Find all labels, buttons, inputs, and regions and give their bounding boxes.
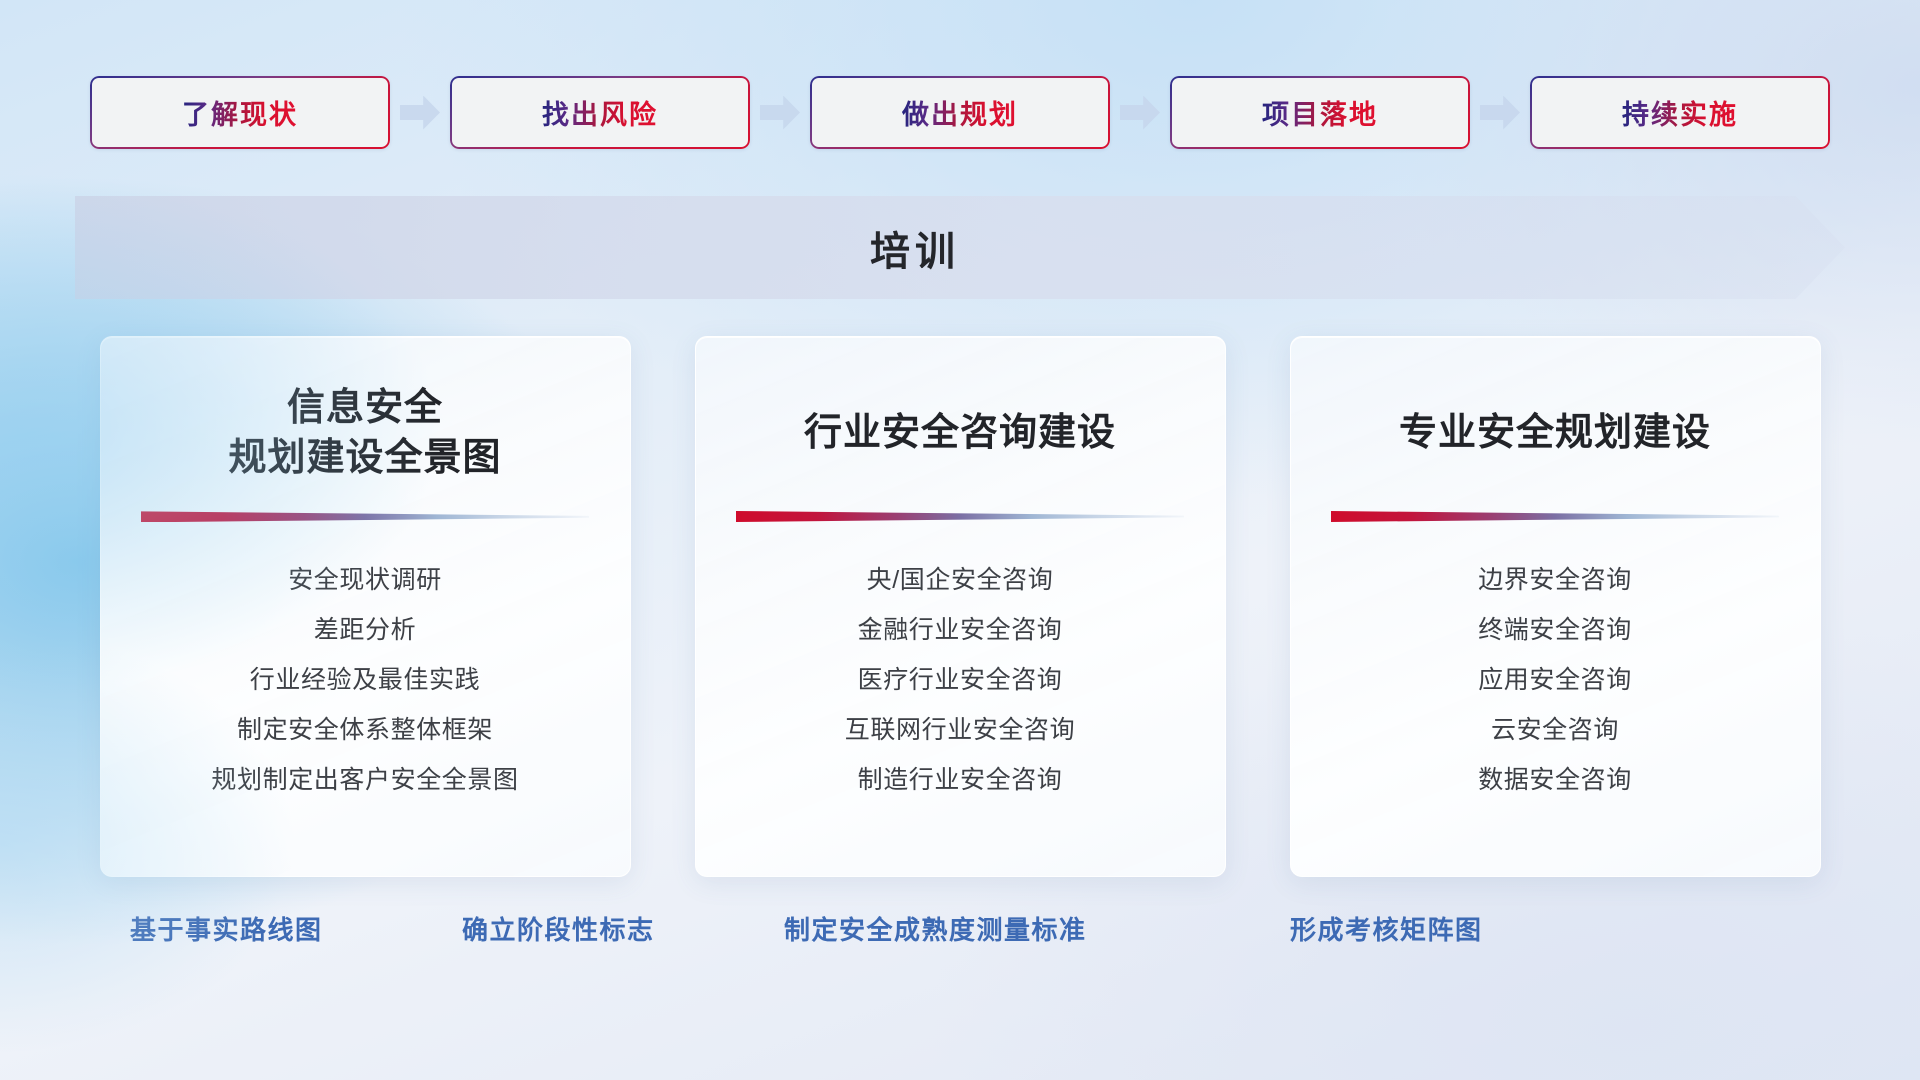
list-item: 金融行业安全咨询 — [736, 606, 1185, 656]
list-item: 数据安全咨询 — [1331, 756, 1780, 806]
card-title-2-line1: 行业安全咨询建设 — [804, 408, 1116, 458]
list-item: 边界安全咨询 — [1331, 556, 1780, 606]
step-label-1: 了解现状 — [182, 93, 298, 132]
list-item: 互联网行业安全咨询 — [736, 706, 1185, 756]
training-banner-arrow: 培训 — [75, 196, 1845, 299]
step-arrow-icon-2 — [760, 96, 800, 130]
list-item: 制定安全体系整体框架 — [141, 706, 590, 756]
list-item: 央/国企安全咨询 — [736, 556, 1185, 606]
card-professional-security-planning[interactable]: 专业安全规划建设 边界安全咨询 终端安全咨询 应用安全咨询 云安全咨询 数据安全… — [1290, 336, 1821, 877]
card-industry-security-consulting[interactable]: 行业安全咨询建设 央/国企安全咨询 金融行业安全咨询 医疗行业安全咨询 互联网行… — [695, 336, 1226, 877]
card-list-3: 边界安全咨询 终端安全咨询 应用安全咨询 云安全咨询 数据安全咨询 — [1331, 556, 1780, 806]
card-title-3: 专业安全规划建设 — [1399, 383, 1711, 483]
list-item: 应用安全咨询 — [1331, 656, 1780, 706]
step-arrow-icon-1 — [400, 96, 440, 130]
card-title-1: 信息安全 规划建设全景图 — [228, 383, 501, 483]
list-item: 终端安全咨询 — [1331, 606, 1780, 656]
list-item: 制造行业安全咨询 — [736, 756, 1185, 806]
caption-3: 制定安全成熟度测量标准 — [784, 910, 1087, 947]
step-label-2: 找出风险 — [542, 93, 658, 132]
step-label-4: 项目落地 — [1262, 93, 1378, 132]
caption-4: 形成考核矩阵图 — [1290, 910, 1483, 947]
card-list-1: 安全现状调研 差距分析 行业经验及最佳实践 制定安全体系整体框架 规划制定出客户… — [141, 556, 590, 806]
card-row: 信息安全 规划建设全景图 安全现状调研 差距分析 行业经验及最佳实践 制定安全体… — [0, 336, 1920, 877]
step-box-2[interactable]: 找出风险 — [450, 76, 750, 149]
step-box-1[interactable]: 了解现状 — [90, 76, 390, 149]
card-divider-1 — [141, 511, 589, 522]
step-label-3: 做出规划 — [902, 93, 1018, 132]
card-divider-3 — [1331, 511, 1779, 522]
card-divider-2 — [736, 511, 1184, 522]
step-box-3[interactable]: 做出规划 — [810, 76, 1110, 149]
list-item: 医疗行业安全咨询 — [736, 656, 1185, 706]
step-label-5: 持续实施 — [1622, 93, 1738, 132]
list-item: 云安全咨询 — [1331, 706, 1780, 756]
list-item: 规划制定出客户安全全景图 — [141, 756, 590, 806]
process-step-row: 了解现状 找出风险 做出规划 项目落地 持续实施 — [0, 76, 1920, 149]
step-box-4[interactable]: 项目落地 — [1170, 76, 1470, 149]
caption-2: 确立阶段性标志 — [462, 910, 655, 947]
list-item: 行业经验及最佳实践 — [141, 656, 590, 706]
card-title-1-line1: 信息安全 — [228, 383, 501, 433]
card-list-2: 央/国企安全咨询 金融行业安全咨询 医疗行业安全咨询 互联网行业安全咨询 制造行… — [736, 556, 1185, 806]
card-information-security-blueprint[interactable]: 信息安全 规划建设全景图 安全现状调研 差距分析 行业经验及最佳实践 制定安全体… — [100, 336, 631, 877]
card-title-1-line2: 规划建设全景图 — [228, 433, 501, 483]
card-title-3-line1: 专业安全规划建设 — [1399, 408, 1711, 458]
step-box-5[interactable]: 持续实施 — [1530, 76, 1830, 149]
list-item: 安全现状调研 — [141, 556, 590, 606]
caption-1: 基于事实路线图 — [130, 910, 323, 947]
infographic-canvas: 了解现状 找出风险 做出规划 项目落地 持续实施 培训 信息安全 规划建设全景图 — [0, 0, 1920, 1080]
step-arrow-icon-4 — [1480, 96, 1520, 130]
card-title-2: 行业安全咨询建设 — [804, 383, 1116, 483]
caption-row: 基于事实路线图 确立阶段性标志 制定安全成熟度测量标准 形成考核矩阵图 — [0, 910, 1920, 970]
training-banner-label: 培训 — [870, 219, 960, 277]
step-arrow-icon-3 — [1120, 96, 1160, 130]
list-item: 差距分析 — [141, 606, 590, 656]
